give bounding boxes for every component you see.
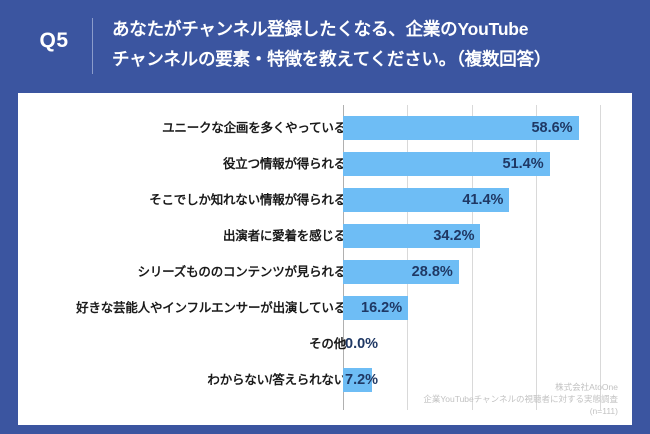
- bar-track: 51.4%: [343, 146, 632, 182]
- category-label: ユニークな企画を多くやっている: [162, 110, 346, 146]
- credit-survey: 企業YouTubeチャンネルの視聴者に対する実態調査: [423, 393, 618, 405]
- chart-row: ユニークな企画を多くやっている58.6%: [18, 110, 632, 146]
- bar-track: 16.2%: [343, 290, 632, 326]
- bar-value-label: 16.2%: [361, 290, 402, 326]
- survey-chart-screen: Q5 あなたがチャンネル登録したくなる、企業のYouTube チャンネルの要素・…: [0, 0, 650, 434]
- bar-chart: ユニークな企画を多くやっている58.6%役立つ情報が得られる51.4%そこでしか…: [18, 93, 632, 425]
- bar-track: 41.4%: [343, 182, 632, 218]
- bar-track: 0.0%: [343, 326, 632, 362]
- credit-block: 株式会社AtoOne 企業YouTubeチャンネルの視聴者に対する実態調査 (n…: [423, 381, 618, 417]
- category-label: そこでしか知れない情報が得られる: [149, 182, 346, 218]
- question-title-line-2: チャンネルの要素・特徴を教えてください。（複数回答）: [112, 44, 637, 74]
- category-label: 好きな芸能人やインフルエンサーが出演している: [76, 290, 346, 326]
- bar-track: 28.8%: [343, 254, 632, 290]
- chart-card: ユニークな企画を多くやっている58.6%役立つ情報が得られる51.4%そこでしか…: [18, 93, 632, 425]
- bar-value-label: 51.4%: [503, 146, 544, 182]
- bar-value-label: 0.0%: [345, 326, 378, 362]
- chart-row: その他0.0%: [18, 326, 632, 362]
- category-label: シリーズもののコンテンツが見られる: [138, 254, 346, 290]
- chart-row: 好きな芸能人やインフルエンサーが出演している16.2%: [18, 290, 632, 326]
- bar-value-label: 28.8%: [412, 254, 453, 290]
- bar-value-label: 58.6%: [531, 110, 572, 146]
- credit-company: 株式会社AtoOne: [423, 381, 618, 393]
- category-label: わからない/答えられない: [207, 362, 346, 398]
- chart-row: シリーズもののコンテンツが見られる28.8%: [18, 254, 632, 290]
- bar-track: 34.2%: [343, 218, 632, 254]
- chart-row: 役立つ情報が得られる51.4%: [18, 146, 632, 182]
- category-label: その他: [309, 326, 346, 362]
- question-title: あなたがチャンネル登録したくなる、企業のYouTube チャンネルの要素・特徴を…: [112, 14, 637, 74]
- bar-value-label: 34.2%: [433, 218, 474, 254]
- question-header: Q5 あなたがチャンネル登録したくなる、企業のYouTube チャンネルの要素・…: [0, 0, 650, 93]
- credit-sample-size: (n=111): [423, 405, 618, 417]
- bar-value-label: 41.4%: [462, 182, 503, 218]
- bar-track: 58.6%: [343, 110, 632, 146]
- question-number: Q5: [28, 29, 80, 53]
- question-title-line-1: あなたがチャンネル登録したくなる、企業のYouTube: [112, 14, 637, 44]
- header-divider: [92, 18, 93, 74]
- chart-row: 出演者に愛着を感じる34.2%: [18, 218, 632, 254]
- category-label: 役立つ情報が得られる: [223, 146, 346, 182]
- bar-value-label: 7.2%: [345, 362, 378, 398]
- category-label: 出演者に愛着を感じる: [223, 218, 346, 254]
- chart-row: そこでしか知れない情報が得られる41.4%: [18, 182, 632, 218]
